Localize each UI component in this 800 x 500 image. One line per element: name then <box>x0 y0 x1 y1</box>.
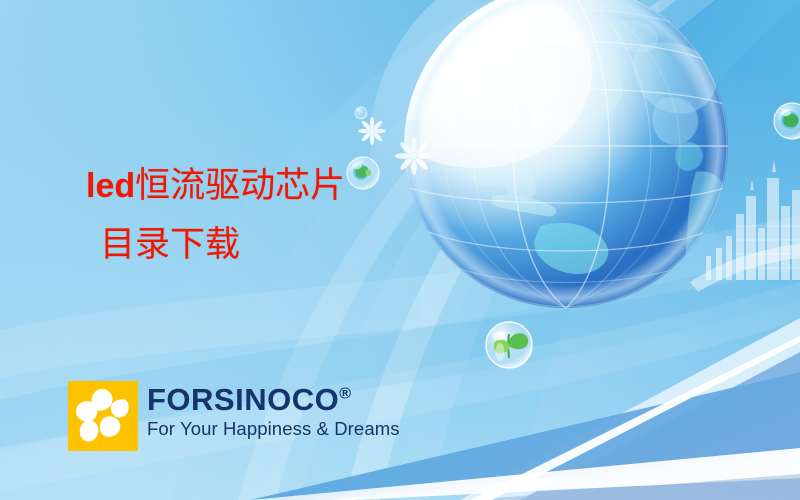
logo-text-block: FORSINOCO® For Your Happiness & Dreams <box>147 381 400 440</box>
brand-name: FORSINOCO® <box>147 384 400 415</box>
brand-tagline: For Your Happiness & Dreams <box>147 418 400 440</box>
slide-canvas: led恒流驱动芯片 目录下载 FORSINOCO® For Your Happi… <box>0 0 800 500</box>
bubble-leaf-icon <box>486 322 532 368</box>
pinwheel-icon <box>68 381 138 451</box>
forsinoco-pinwheel-mark <box>68 381 138 451</box>
forsinoco-logo[interactable]: FORSINOCO® For Your Happiness & Dreams <box>68 381 400 451</box>
text-backdrop-wash <box>0 120 420 320</box>
bubble-small-top <box>355 107 367 119</box>
brand-name-word: FORSINOCO <box>147 382 339 417</box>
registered-trademark-symbol: ® <box>339 386 351 403</box>
